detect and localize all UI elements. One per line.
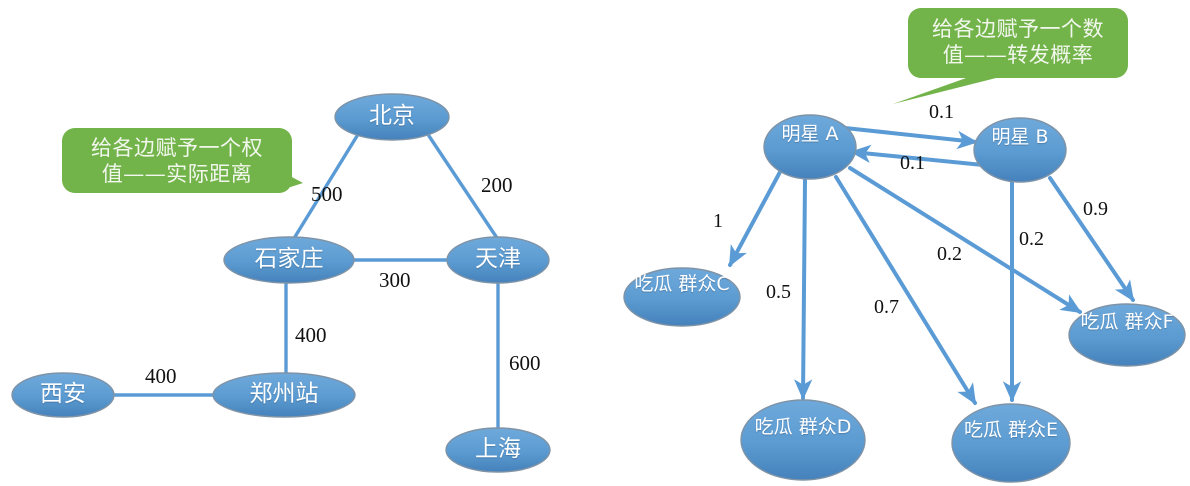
edge-weight-xian-zhengzhou: 400 (145, 364, 177, 389)
edge-weight-beijing-shijiazhuang: 500 (311, 182, 343, 207)
edge-weight-starA-crowdD: 0.5 (766, 281, 791, 304)
node-tianjin[interactable] (447, 237, 549, 283)
edge-starA-starB (845, 128, 976, 142)
edge-starA-crowdF (850, 168, 1080, 312)
node-crowdC[interactable] (624, 268, 740, 326)
right-callout-tail (893, 77, 1000, 104)
diagram-canvas: 北京 石家庄 天津 西安 郑州站 上海 明星 A 明星 B 吃瓜 群众C 吃瓜 … (0, 0, 1190, 486)
left-callout-line-1: 给各边赋予一个权 (62, 135, 292, 161)
edge-weight-starB-starA: 0.1 (900, 152, 925, 175)
edge-weight-starB-crowdF: 0.9 (1083, 198, 1108, 221)
node-starB[interactable] (974, 118, 1066, 182)
edge-weight-starB-crowdE: 0.2 (1019, 228, 1044, 251)
edge-weight-shijiazhuang-tianjin: 300 (379, 268, 411, 293)
edge-weight-starA-crowdF: 0.2 (937, 243, 962, 266)
edge-weight-starA-crowdC: 1 (713, 210, 723, 233)
edge-weight-starA-starB: 0.1 (929, 101, 954, 124)
edge-starA-crowdE (836, 177, 975, 403)
node-shanghai[interactable] (446, 428, 550, 472)
right-callout-line-2: 值——转发概率 (908, 42, 1128, 68)
left-callout-line-2: 值——实际距离 (62, 161, 292, 187)
edge-starB-crowdF (1050, 178, 1133, 300)
edge-starA-crowdC (730, 172, 780, 265)
edge-weight-starA-crowdE: 0.7 (874, 296, 899, 319)
edge-starA-crowdD (803, 180, 805, 398)
node-starA[interactable] (764, 115, 856, 179)
node-crowdE[interactable] (952, 404, 1070, 482)
right-callout-line-1: 给各边赋予一个数 (908, 16, 1128, 42)
edge-weight-beijing-tianjin: 200 (481, 173, 513, 198)
edge-weight-shijiazhuang-zhengzhou: 400 (295, 323, 327, 348)
right-callout[interactable]: 给各边赋予一个数 值——转发概率 (908, 8, 1128, 78)
edge-weight-tianjin-shanghai: 600 (509, 351, 541, 376)
node-xian[interactable] (12, 373, 114, 417)
node-shijiazhuang[interactable] (224, 237, 354, 283)
left-callout[interactable]: 给各边赋予一个权 值——实际距离 (62, 128, 292, 193)
node-crowdD[interactable] (741, 400, 865, 480)
node-crowdF[interactable] (1069, 304, 1185, 366)
node-beijing[interactable] (335, 94, 449, 140)
node-zhengzhou[interactable] (213, 373, 355, 417)
